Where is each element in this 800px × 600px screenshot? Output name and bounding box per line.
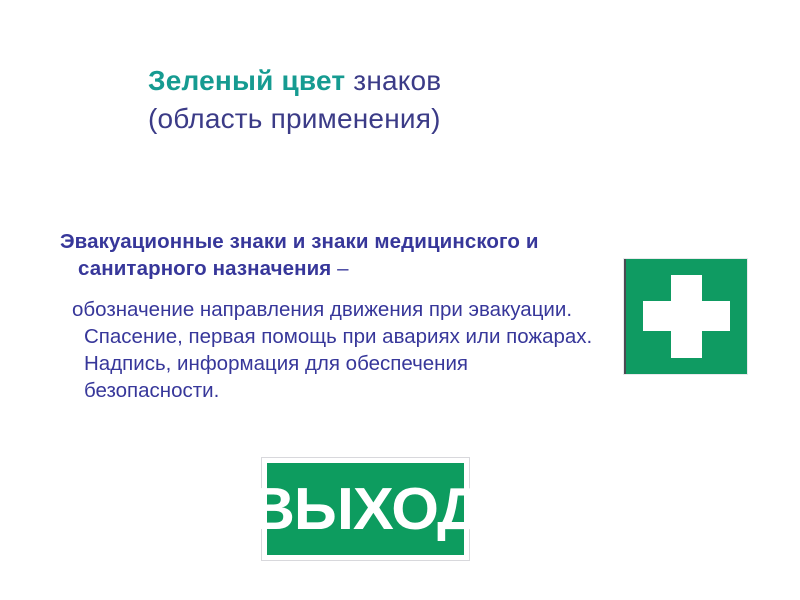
title-rest-text: знаков	[345, 65, 441, 96]
slide-body: Эвакуационные знаки и знаки медицинского…	[60, 228, 605, 404]
slide-title: Зеленый цвет знаков (область применения)	[148, 62, 618, 138]
body-paragraph-heading-dash: –	[331, 257, 348, 280]
exit-sign-panel: ВЫХОД	[267, 463, 464, 555]
title-line-1: Зеленый цвет знаков	[148, 62, 618, 100]
exit-sign: ВЫХОД	[261, 457, 470, 561]
exit-sign-label: ВЫХОД	[251, 480, 480, 539]
presentation-slide: Зеленый цвет знаков (область применения)…	[0, 0, 800, 600]
first-aid-cross-icon-horizontal	[643, 301, 730, 331]
first-aid-sign	[624, 259, 747, 374]
title-line-2: (область применения)	[148, 100, 618, 138]
title-accent-text: Зеленый цвет	[148, 65, 345, 96]
body-paragraph-heading: Эвакуационные знаки и знаки медицинского…	[60, 228, 605, 282]
body-paragraph-description: обозначение направления движения при эва…	[60, 296, 605, 404]
body-paragraph-heading-text: Эвакуационные знаки и знаки медицинского…	[60, 230, 539, 280]
